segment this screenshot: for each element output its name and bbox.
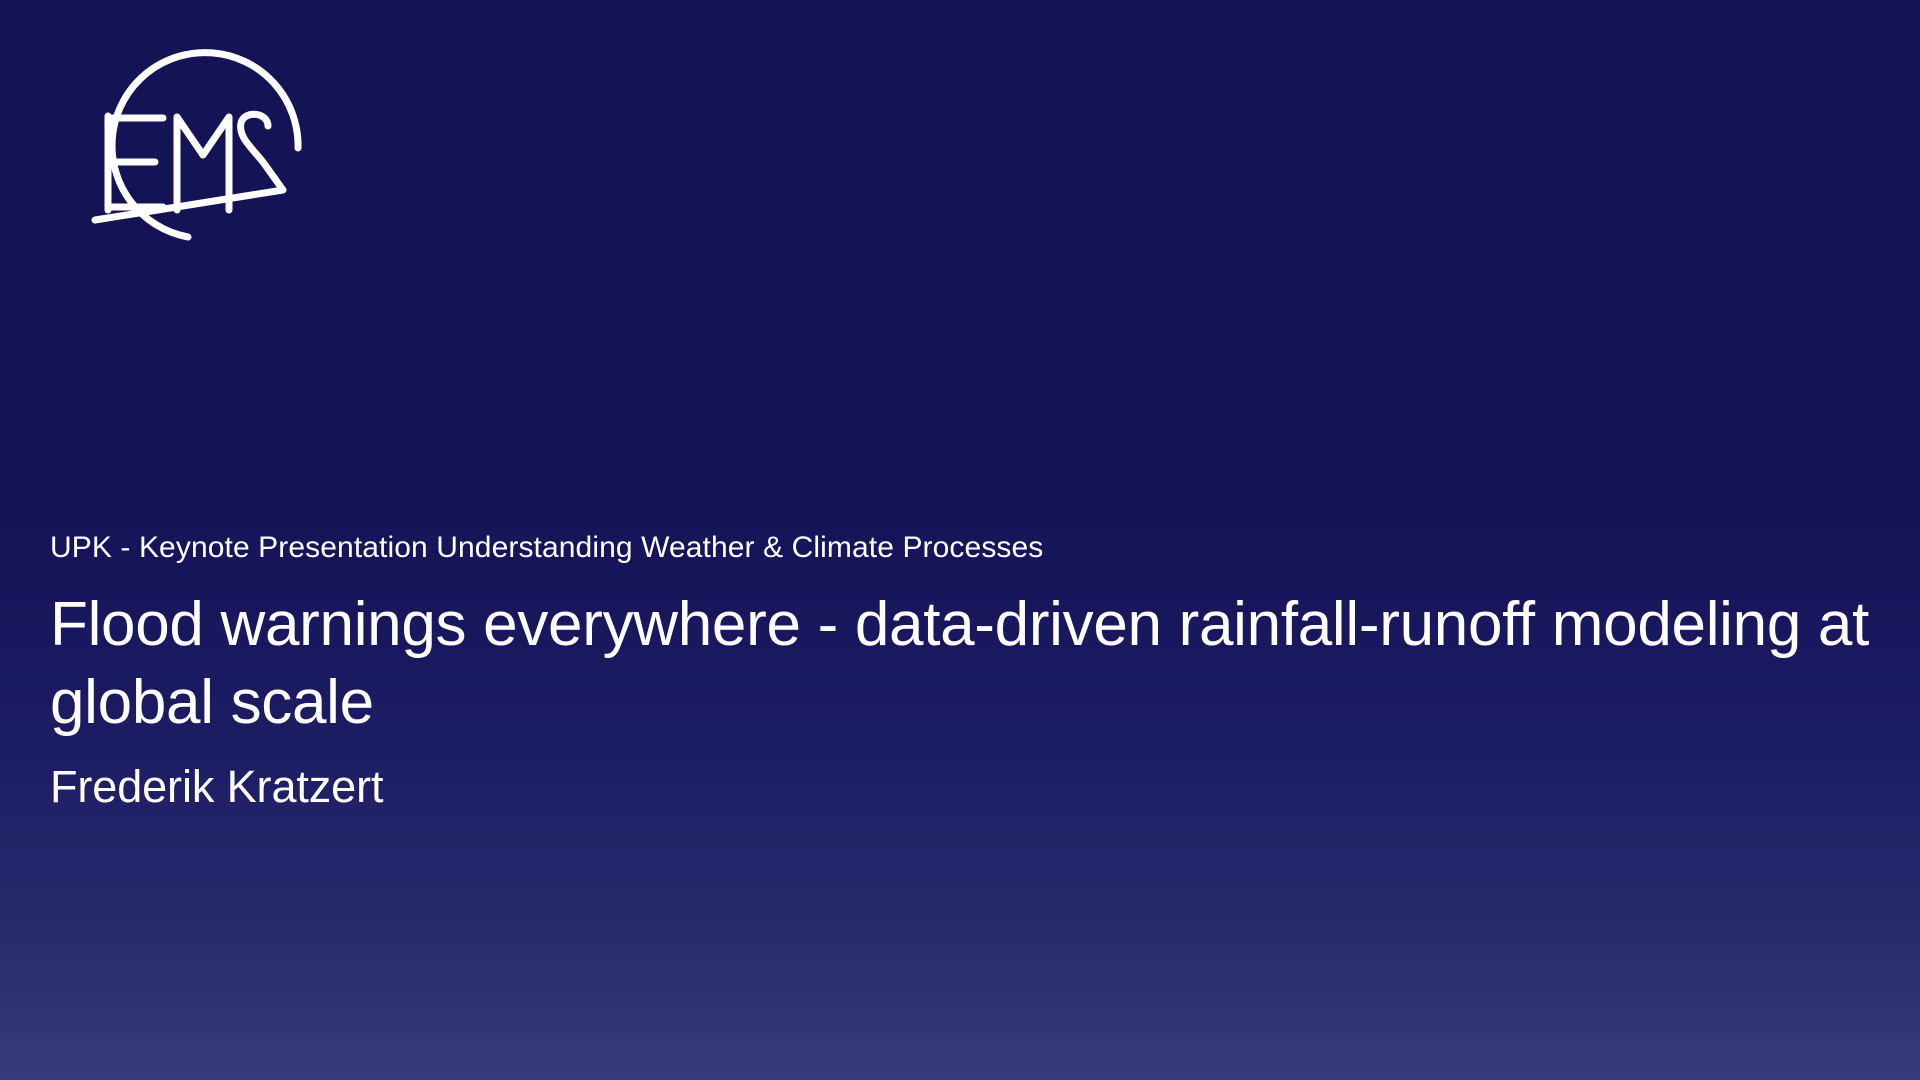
ems-logo-graphic bbox=[55, 38, 305, 248]
title-line-1: Flood warnings everywhere - data-driven … bbox=[50, 590, 1535, 659]
logo-letter-m bbox=[177, 117, 229, 210]
slide-text-block: UPK - Keynote Presentation Understanding… bbox=[50, 528, 1880, 816]
ems-logo bbox=[55, 38, 305, 248]
event-line: UPK - Keynote Presentation Understanding… bbox=[50, 528, 1880, 568]
presenter-name: Frederik Kratzert bbox=[50, 758, 1880, 817]
title-slide: UPK - Keynote Presentation Understanding… bbox=[0, 0, 1920, 1080]
page-title: Flood warnings everywhere - data-driven … bbox=[50, 586, 1880, 742]
